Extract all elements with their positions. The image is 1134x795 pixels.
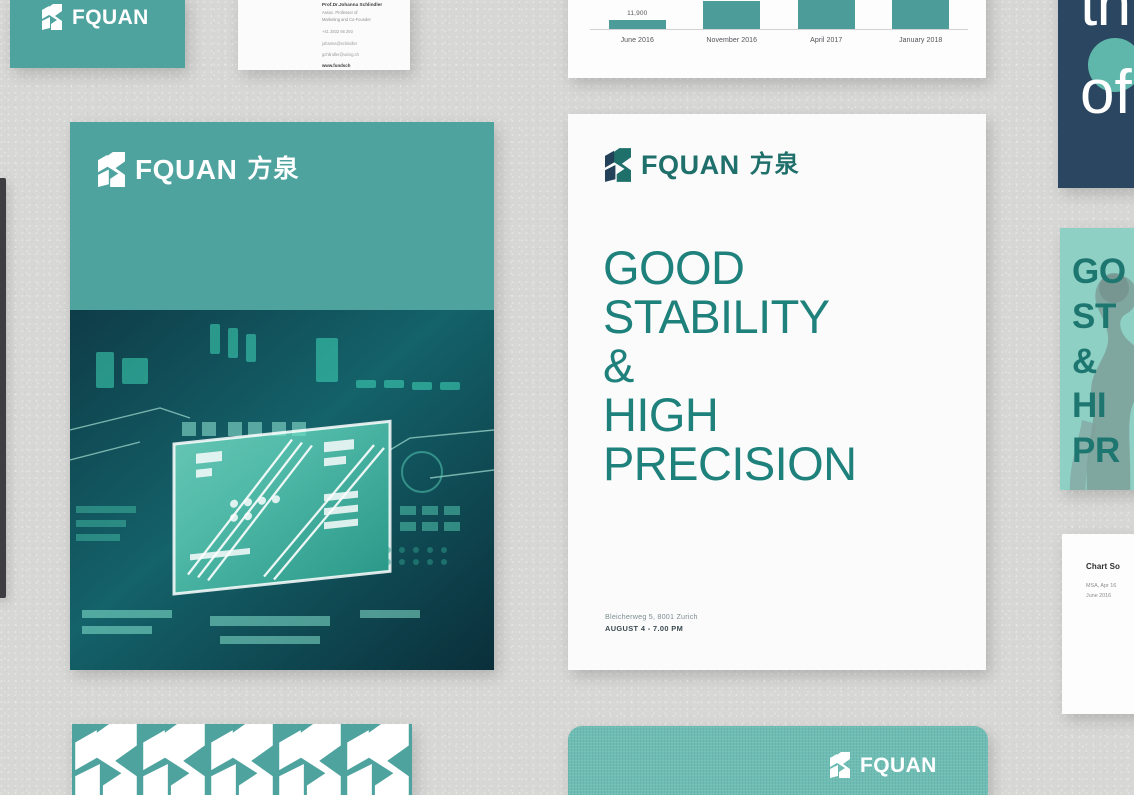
fquan-logo-mark-icon xyxy=(42,4,62,30)
poster-headline-line-3: & xyxy=(603,342,966,391)
logo-wordmark: FQUAN xyxy=(641,152,740,179)
bar-category-label: April 2017 xyxy=(785,37,868,44)
poster-date: AUGUST 4 - 7.00 PM xyxy=(605,623,698,636)
logo-wordmark: FQUAN xyxy=(135,156,237,184)
navy-poster-line-b: of xyxy=(1080,62,1132,124)
navy-poster: th of xyxy=(1058,0,1134,188)
pattern-motif-icon xyxy=(72,724,140,795)
circuit-board-photo xyxy=(70,310,494,670)
bar-column xyxy=(785,0,868,30)
pattern-motif-icon xyxy=(208,724,276,795)
chart-source-sheet: Chart So MSA, Apr 16 June 2016 xyxy=(1062,534,1134,714)
bar-column: 11,900 xyxy=(596,0,679,30)
bar-category-label: November 2016 xyxy=(690,37,773,44)
bar xyxy=(703,1,760,30)
teal-poster-line-4: HI xyxy=(1072,384,1126,429)
pattern-card xyxy=(72,724,412,795)
poster-headline-line-1: GOOD xyxy=(603,244,966,293)
chart-source-subtext: MSA, Apr 16 June 2016 xyxy=(1086,582,1116,601)
business-card-role-line2: Marketing and Co-Founder xyxy=(322,17,402,24)
white-business-card: Technology Ltd. Prof.Dr.Johanna Schlindl… xyxy=(238,0,410,70)
chart-axis-line xyxy=(590,29,968,30)
business-card-role-line1: Assoc. Professor of xyxy=(322,10,402,17)
poster-address: Bleicherweg 5, 8001 Zurich xyxy=(605,611,698,623)
navy-poster-line-a: th xyxy=(1080,0,1130,36)
fquan-logo-mark-icon xyxy=(605,148,631,182)
teal-poster-line-2: ST xyxy=(1072,295,1126,340)
teal-poster-line-5: PR xyxy=(1072,429,1126,474)
bar-column: 34,000 xyxy=(690,0,773,30)
pattern-motif-icon xyxy=(276,724,344,795)
fquan-logo-mark-icon xyxy=(98,152,125,187)
brochure-cover: FQUAN 方泉 xyxy=(70,122,494,670)
business-card-contact-line1: +41 2832 66 293 xyxy=(322,29,402,36)
bar-column xyxy=(879,0,962,30)
pattern-motif-row xyxy=(72,724,412,795)
chart-source-title: Chart So xyxy=(1086,562,1120,571)
business-card-contact-line3: gchlindler@unisg.ch xyxy=(322,52,402,59)
edge-sliver xyxy=(0,178,6,598)
event-poster: FQUAN 方泉 GOODSTABILITY&HIGHPRECISION Ble… xyxy=(568,114,986,670)
bar-chart-category-labels: June 2016November 2016April 2017January … xyxy=(590,37,968,44)
logo-wordmark: FQUAN xyxy=(72,7,149,28)
teal-folder: FQUAN xyxy=(568,726,988,795)
fquan-logo-mark-icon xyxy=(830,752,850,778)
bar xyxy=(798,0,855,30)
teal-poster: GO ST & HI PR xyxy=(1060,228,1134,490)
logo-wordmark-cn: 方泉 xyxy=(750,153,800,177)
business-card-contact-line2: johanna@schindler xyxy=(322,41,402,48)
bar xyxy=(892,0,949,30)
logo-lockup: FQUAN 方泉 xyxy=(605,148,800,182)
chart-source-sub-line1: MSA, Apr 16 xyxy=(1086,582,1116,592)
poster-headline-line-2: STABILITY xyxy=(603,293,966,342)
bar-chart-bars: 11,90034,000 xyxy=(590,0,968,30)
poster-headline: GOODSTABILITY&HIGHPRECISION xyxy=(603,244,966,488)
bar-category-label: June 2016 xyxy=(596,37,679,44)
poster-headline-line-5: PRECISION xyxy=(603,440,966,489)
poster-footer: Bleicherweg 5, 8001 Zurich AUGUST 4 - 7.… xyxy=(605,611,698,636)
pattern-motif-icon xyxy=(140,724,208,795)
logo-wordmark: FQUAN xyxy=(860,755,937,776)
mockup-stage: FQUAN Technology Ltd. Prof.Dr.Johanna Sc… xyxy=(0,0,1134,795)
teal-poster-line-1: GO xyxy=(1072,250,1126,295)
bar-category-label: January 2018 xyxy=(879,37,962,44)
circuit-board-illustration xyxy=(70,310,494,670)
business-card-website: www.fundsch xyxy=(322,63,402,68)
teal-business-card: FQUAN xyxy=(10,0,185,68)
chart-sheet: 11,90034,000 June 2016November 2016April… xyxy=(568,0,986,78)
logo-lockup: FQUAN xyxy=(830,752,937,778)
poster-headline-line-4: HIGH xyxy=(603,391,966,440)
pattern-motif-icon xyxy=(344,724,412,795)
logo-wordmark-cn: 方泉 xyxy=(247,157,299,182)
teal-poster-headline: GO ST & HI PR xyxy=(1072,250,1126,474)
bar-value-label: 11,900 xyxy=(627,10,647,17)
teal-poster-line-3: & xyxy=(1072,340,1126,385)
business-card-details: Prof.Dr.Johanna Schlindler Assoc. Profes… xyxy=(322,2,402,68)
business-card-name: Prof.Dr.Johanna Schlindler xyxy=(322,2,402,9)
bar-chart: 11,90034,000 June 2016November 2016April… xyxy=(590,0,968,48)
chart-source-sub-line2: June 2016 xyxy=(1086,592,1116,602)
logo-lockup: FQUAN 方泉 xyxy=(98,152,299,187)
logo-lockup: FQUAN xyxy=(42,4,149,30)
